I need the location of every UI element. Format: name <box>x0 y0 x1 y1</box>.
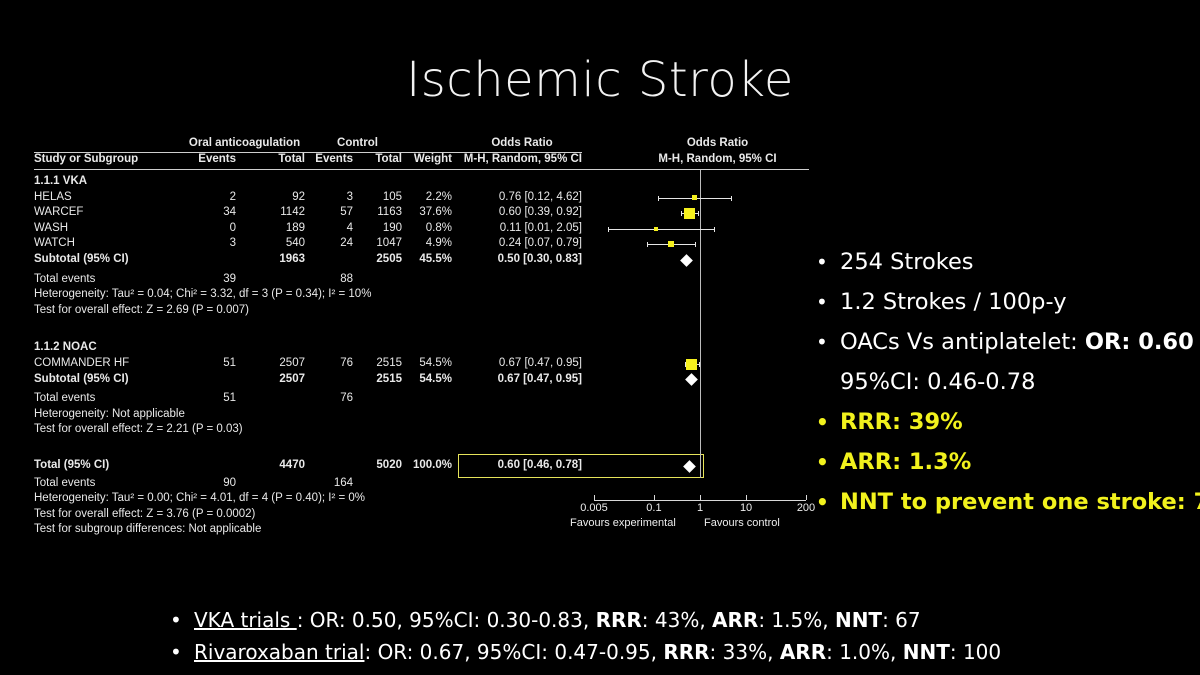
row-events-1: 51 <box>184 358 236 370</box>
subtotal-label: Subtotal (95% CI) <box>34 374 129 386</box>
total-highlight-box <box>458 454 704 478</box>
total-events-value-2: 88 <box>313 274 353 286</box>
axis-tick-label-10: 10 <box>724 503 768 514</box>
row-odds-ratio: 0.11 [0.01, 2.05] <box>462 223 582 235</box>
summary-diamond <box>680 254 693 267</box>
study-marker <box>654 227 658 231</box>
summary-item-1: 1.2 Strokes / 100p-y <box>812 282 1200 322</box>
axis-tick-0.005 <box>594 495 595 500</box>
total-events-value-2: 76 <box>313 393 353 405</box>
summary-diamond <box>686 373 699 386</box>
row-weight: 2.2% <box>406 192 452 204</box>
header-study-or-subgroup: Study or Subgroup <box>34 154 138 166</box>
total-events-value-1: 51 <box>184 393 236 405</box>
trial-name: Rivaroxaban trial <box>194 640 364 664</box>
grand-total-weight: 100.0% <box>406 460 452 472</box>
metric-label: NNT <box>835 608 882 632</box>
summary-item-0: 254 Strokes <box>812 242 1200 282</box>
ci-cap-left <box>658 196 659 201</box>
grand-total-total-2: 5020 <box>356 460 402 472</box>
header-events-1: Events <box>184 154 236 166</box>
header-or-method-left: M-H, Random, 95% CI <box>462 154 582 166</box>
row-total-2: 1047 <box>356 238 402 250</box>
trial-summary-list: VKA trials : OR: 0.50, 95%CI: 0.30-0.83,… <box>128 604 1168 668</box>
row-total-1: 1142 <box>249 207 305 219</box>
summary-item-3: 95%CI: 0.46-0.78 <box>812 362 1200 402</box>
row-events-2: 76 <box>313 358 353 370</box>
summary-item-2: OACs Vs antiplatelet: OR: 0.60 <box>812 322 1200 362</box>
subtotal-total-1: 2507 <box>249 374 305 386</box>
metric-label: ARR <box>712 608 758 632</box>
ci-line <box>685 364 699 365</box>
row-total-2: 105 <box>356 192 402 204</box>
axis-tick-label-0.1: 0.1 <box>632 503 676 514</box>
row-odds-ratio: 0.24 [0.07, 0.79] <box>462 238 582 250</box>
axis-favours-experimental: Favours experimental <box>570 518 676 529</box>
row-events-2: 3 <box>313 192 353 204</box>
metric-label: ARR <box>780 640 826 664</box>
ci-line <box>658 198 731 199</box>
metric-label: NNT <box>903 640 950 664</box>
row-study-name: WARCEF <box>34 207 83 219</box>
row-total-1: 2507 <box>249 358 305 370</box>
overall-effect-text: Test for overall effect: Z = 2.21 (P = 0… <box>34 424 243 436</box>
trial-summary-item-0: VKA trials : OR: 0.50, 95%CI: 0.30-0.83,… <box>168 604 1168 636</box>
total-events-label: Total events <box>34 274 95 286</box>
ci-line <box>647 244 695 245</box>
row-events-2: 4 <box>313 223 353 235</box>
subtotal-odds-ratio: 0.67 [0.47, 0.95] <box>462 374 582 386</box>
header-rule-bottom <box>34 169 809 170</box>
subgroup-difference-text: Test for subgroup differences: Not appli… <box>34 524 261 536</box>
study-marker <box>692 195 697 200</box>
row-odds-ratio: 0.67 [0.47, 0.95] <box>462 358 582 370</box>
total-events-value-1: 39 <box>184 274 236 286</box>
overall-effect-text: Test for overall effect: Z = 2.69 (P = 0… <box>34 305 249 317</box>
ci-cap-right <box>714 227 715 232</box>
axis-tick-label-0.005: 0.005 <box>572 503 616 514</box>
header-total-2: Total <box>356 154 402 166</box>
row-weight: 0.8% <box>406 223 452 235</box>
ci-cap-right <box>695 242 696 247</box>
axis-favours-control: Favours control <box>704 518 780 529</box>
study-marker <box>686 359 697 370</box>
metric-label: RRR <box>663 640 709 664</box>
subtotal-total-2: 2505 <box>356 254 402 266</box>
row-total-2: 1163 <box>356 207 402 219</box>
subtotal-odds-ratio: 0.50 [0.30, 0.83] <box>462 254 582 266</box>
row-total-2: 2515 <box>356 358 402 370</box>
row-total-1: 540 <box>249 238 305 250</box>
summary-item-6: NNT to prevent one stroke: 77 <box>812 482 1200 522</box>
subtotal-total-2: 2515 <box>356 374 402 386</box>
null-effect-line <box>700 170 701 478</box>
row-total-1: 189 <box>249 223 305 235</box>
summary-item-value: OR: 0.60 <box>1085 329 1194 355</box>
header-rule-top <box>34 152 582 153</box>
slide-canvas: Ischemic Stroke Oral anticoagulationCont… <box>0 0 1200 675</box>
axis-tick-1 <box>700 495 701 500</box>
row-study-name: WASH <box>34 223 68 235</box>
row-events-1: 3 <box>184 238 236 250</box>
axis-tick-0.1 <box>654 495 655 500</box>
header-weight: Weight <box>406 154 452 166</box>
grand-total-events-label: Total events <box>34 478 95 490</box>
row-odds-ratio: 0.76 [0.12, 4.62] <box>462 192 582 204</box>
trial-name: VKA trials <box>194 608 297 632</box>
row-study-name: COMMANDER HF <box>34 358 129 370</box>
row-events-2: 57 <box>313 207 353 219</box>
row-weight: 4.9% <box>406 238 452 250</box>
row-total-2: 190 <box>356 223 402 235</box>
study-marker <box>684 208 695 219</box>
metric-label: RRR <box>596 608 642 632</box>
grand-total-label: Total (95% CI) <box>34 460 109 472</box>
page-title: Ischemic Stroke <box>0 52 1200 108</box>
ci-cap-left <box>647 242 648 247</box>
row-events-1: 34 <box>184 207 236 219</box>
header-total-1: Total <box>249 154 305 166</box>
grand-total-events-1: 90 <box>184 478 236 490</box>
row-odds-ratio: 0.60 [0.39, 0.92] <box>462 207 582 219</box>
row-study-name: HELAS <box>34 192 72 204</box>
header-odds-ratio-right: Odds Ratio <box>594 138 841 150</box>
row-events-1: 2 <box>184 192 236 204</box>
ci-cap-right <box>731 196 732 201</box>
axis-tick-label-1: 1 <box>678 503 722 514</box>
axis-tick-10 <box>746 495 747 500</box>
trial-summary-item-1: Rivaroxaban trial: OR: 0.67, 95%CI: 0.47… <box>168 636 1168 668</box>
forest-plot: Oral anticoagulationControlOdds RatioOdd… <box>34 138 809 568</box>
ci-cap-right <box>698 211 699 216</box>
header-control: Control <box>313 138 402 150</box>
total-events-label: Total events <box>34 393 95 405</box>
grand-total-total-1: 4470 <box>249 460 305 472</box>
subtotal-total-1: 1963 <box>249 254 305 266</box>
summary-bullet-list: 254 Strokes1.2 Strokes / 100p-yOACs Vs a… <box>772 242 1200 522</box>
heterogeneity-text: Heterogeneity: Not applicable <box>34 409 185 421</box>
row-study-name: WATCH <box>34 238 75 250</box>
summary-item-value: 77 <box>1194 489 1200 515</box>
ci-cap-left <box>608 227 609 232</box>
ci-cap-left <box>681 211 682 216</box>
row-weight: 54.5% <box>406 358 452 370</box>
header-odds-ratio-left: Odds Ratio <box>462 138 582 150</box>
ci-cap-right <box>699 362 700 367</box>
grand-total-events-2: 164 <box>313 478 353 490</box>
subtotal-label: Subtotal (95% CI) <box>34 254 129 266</box>
subtotal-weight: 45.5% <box>406 254 452 266</box>
summary-item-5: ARR: 1.3% <box>812 442 1200 482</box>
subgroup-label-1: 1.1.2 NOAC <box>34 342 97 354</box>
heterogeneity-text: Heterogeneity: Tau² = 0.04; Chi² = 3.32,… <box>34 289 371 301</box>
header-or-method-right: M-H, Random, 95% CI <box>594 154 841 166</box>
grand-heterogeneity-text: Heterogeneity: Tau² = 0.00; Chi² = 4.01,… <box>34 493 365 505</box>
ci-cap-left <box>685 362 686 367</box>
row-events-2: 24 <box>313 238 353 250</box>
header-events-2: Events <box>313 154 353 166</box>
summary-item-4: RRR: 39% <box>812 402 1200 442</box>
row-total-1: 92 <box>249 192 305 204</box>
row-events-1: 0 <box>184 223 236 235</box>
grand-overall-effect-text: Test for overall effect: Z = 3.76 (P = 0… <box>34 509 255 521</box>
summary-item-lead: NNT <box>840 489 893 515</box>
ci-line <box>608 229 714 230</box>
subtotal-weight: 54.5% <box>406 374 452 386</box>
subgroup-label-0: 1.1.1 VKA <box>34 176 87 188</box>
ci-line <box>681 213 698 214</box>
study-marker <box>668 241 674 247</box>
row-weight: 37.6% <box>406 207 452 219</box>
header-oral-anticoagulation: Oral anticoagulation <box>184 138 305 150</box>
